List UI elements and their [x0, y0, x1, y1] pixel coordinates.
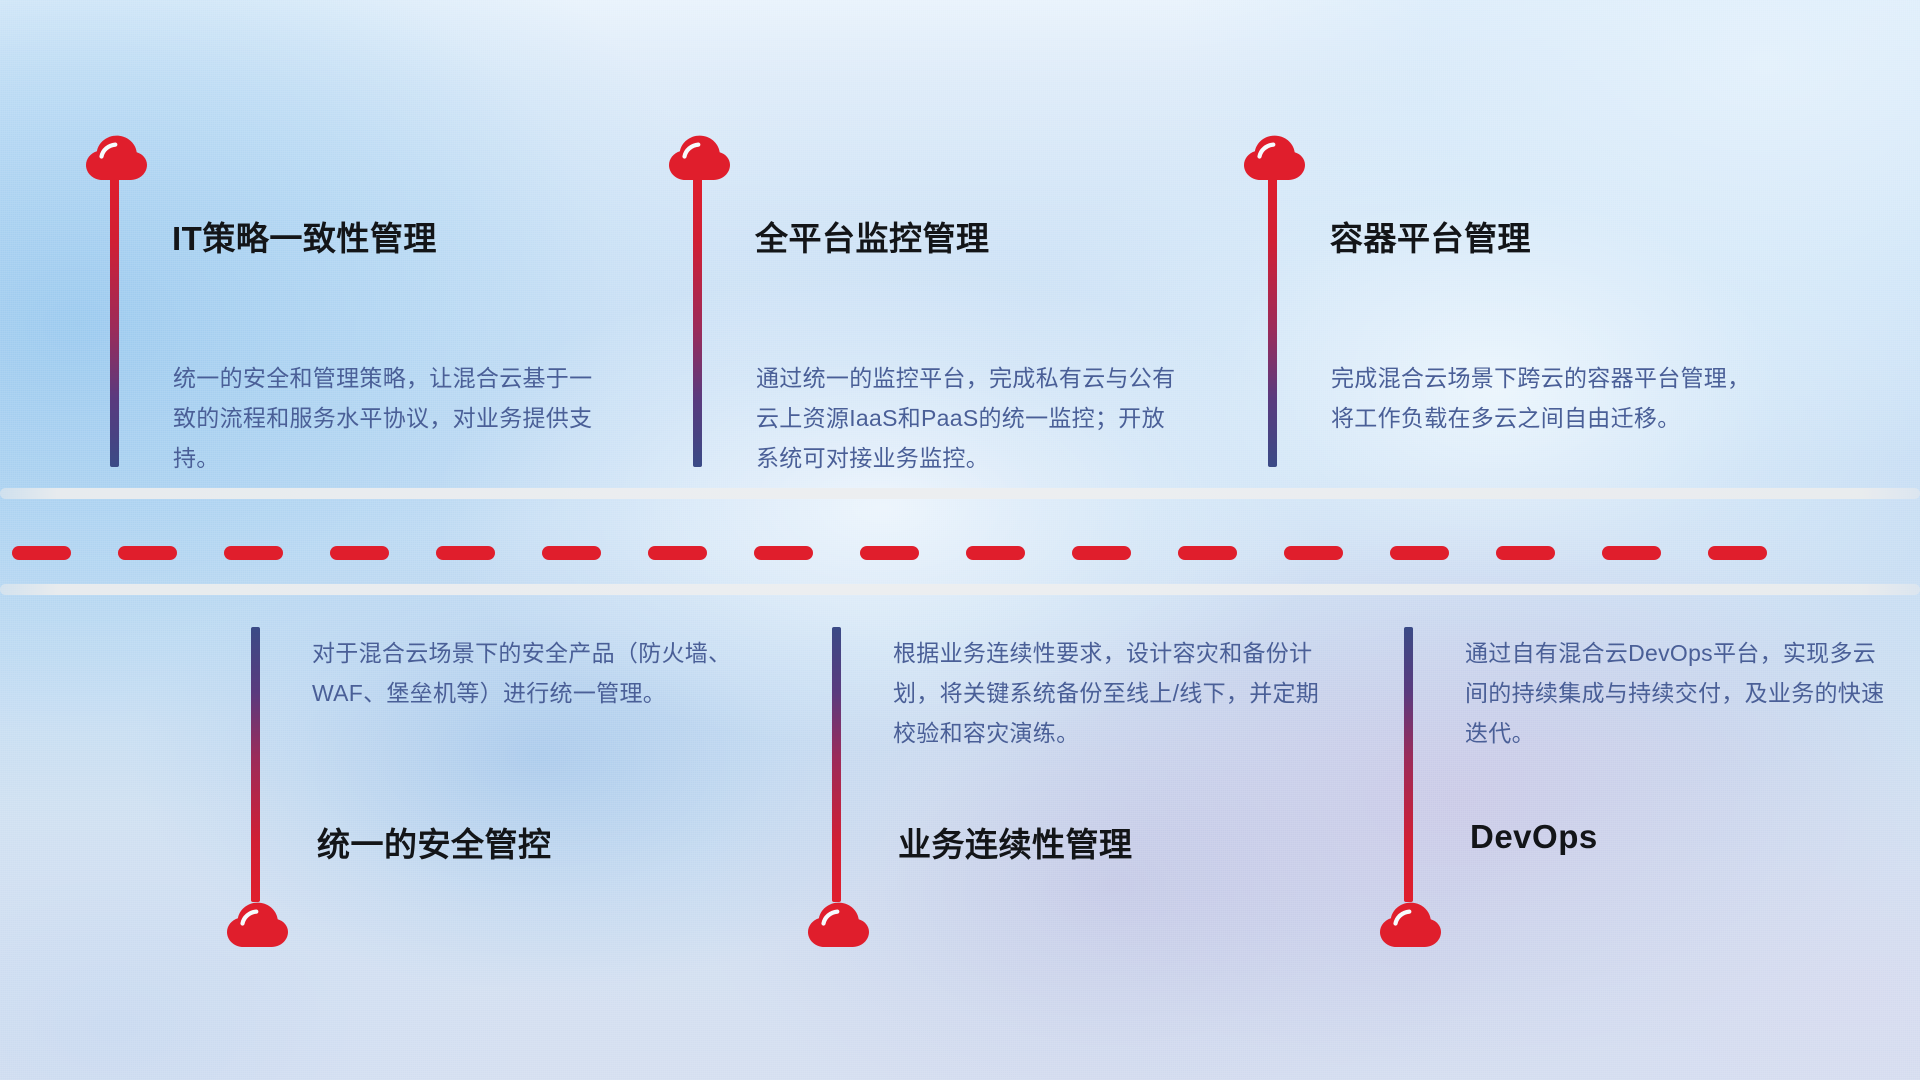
card-title: DevOps: [1470, 818, 1598, 856]
connector-pole: [110, 177, 119, 467]
divider-dash: [118, 546, 177, 560]
cloud-icon: [82, 131, 148, 181]
divider-dash: [12, 546, 71, 560]
infographic-canvas: IT策略一致性管理 统一的安全和管理策略，让混合云基于一致的流程和服务水平协议，…: [0, 0, 1920, 1080]
divider-dash: [648, 546, 707, 560]
cloud-icon: [1240, 131, 1306, 181]
divider-dash: [966, 546, 1025, 560]
cloud-icon: [1376, 898, 1442, 948]
divider-dash: [542, 546, 601, 560]
connector-pole: [1268, 177, 1277, 467]
connector-pole: [832, 627, 841, 902]
card-description: 完成混合云场景下跨云的容器平台管理，将工作负载在多云之间自由迁移。: [1331, 358, 1761, 438]
card-title: 全平台监控管理: [755, 212, 990, 260]
card-title: 统一的安全管控: [317, 818, 552, 866]
card-description: 对于混合云场景下的安全产品（防火墙、WAF、堡垒机等）进行统一管理。: [312, 633, 732, 713]
card-description: 通过统一的监控平台，完成私有云与公有云上资源IaaS和PaaS的统一监控；开放系…: [756, 358, 1186, 478]
connector-pole: [251, 627, 260, 902]
divider-dashed-line: [0, 545, 1920, 560]
divider-rail-bottom: [0, 584, 1920, 595]
card-description: 通过自有混合云DevOps平台，实现多云间的持续集成与持续交付，及业务的快速迭代…: [1465, 633, 1895, 753]
divider-dash: [1072, 546, 1131, 560]
card-description: 根据业务连续性要求，设计容灾和备份计划，将关键系统备份至线上/线下，并定期校验和…: [893, 633, 1323, 753]
divider-dash: [1178, 546, 1237, 560]
card-title: IT策略一致性管理: [172, 212, 437, 260]
divider-dash: [1284, 546, 1343, 560]
card-description: 统一的安全和管理策略，让混合云基于一致的流程和服务水平协议，对业务提供支持。: [173, 358, 593, 478]
divider-dash: [330, 546, 389, 560]
card-title: 业务连续性管理: [898, 818, 1133, 866]
divider-dash: [1602, 546, 1661, 560]
divider-rail-top: [0, 488, 1920, 499]
cloud-icon: [804, 898, 870, 948]
divider-dash: [754, 546, 813, 560]
divider-dash: [1708, 546, 1767, 560]
cloud-icon: [223, 898, 289, 948]
divider-dash: [224, 546, 283, 560]
divider-dash: [436, 546, 495, 560]
divider-dash: [1496, 546, 1555, 560]
divider-dash: [1390, 546, 1449, 560]
divider-dash: [860, 546, 919, 560]
connector-pole: [693, 177, 702, 467]
connector-pole: [1404, 627, 1413, 902]
cloud-icon: [665, 131, 731, 181]
card-title: 容器平台管理: [1330, 212, 1531, 260]
